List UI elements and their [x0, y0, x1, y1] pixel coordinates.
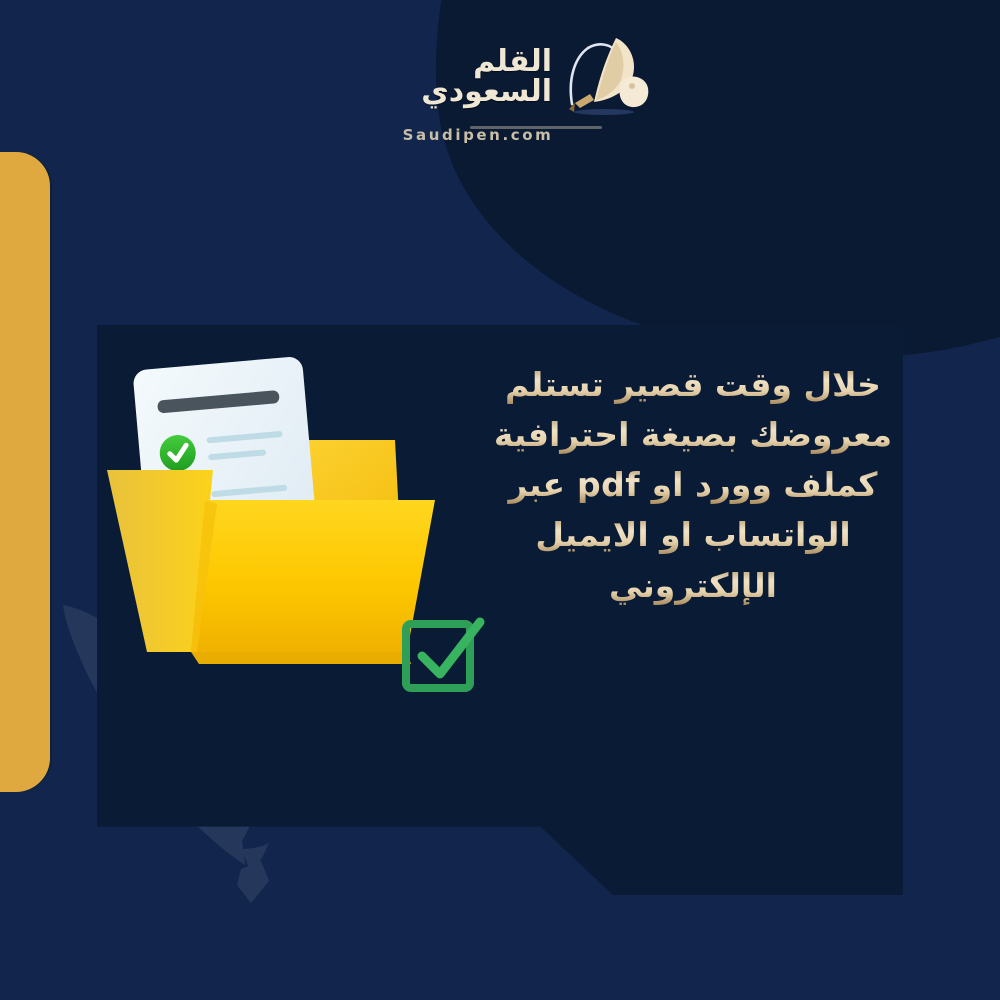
quill-pen-icon: [558, 34, 650, 118]
headline-line-5: الإلكتروني: [483, 561, 903, 611]
footer-bar: Saudipen.com 05 5666 3321: [0, 895, 1000, 975]
headline-line-1: خلال وقت قصير تستلم: [483, 360, 903, 410]
logo-underline-rule: [470, 126, 602, 129]
headline-line-3: كملف وورد او pdf عبر: [483, 460, 903, 510]
green-checkbox-icon: [396, 608, 488, 700]
headline-line-4: الواتساب او الايميل: [483, 510, 903, 560]
promo-card-canvas: القلم السعودي Saudipen.com: [0, 0, 1000, 1000]
brand-logo: القلم السعودي Saudipen.com: [0, 34, 1000, 144]
headline-line-2: معروضك بصيغة احترافية: [483, 410, 903, 460]
logo-arabic-name: القلم السعودي: [350, 47, 552, 107]
headline-text-block: خلال وقت قصير تستلم معروضك بصيغة احترافي…: [483, 360, 903, 611]
left-gold-accent-panel: [0, 152, 50, 792]
